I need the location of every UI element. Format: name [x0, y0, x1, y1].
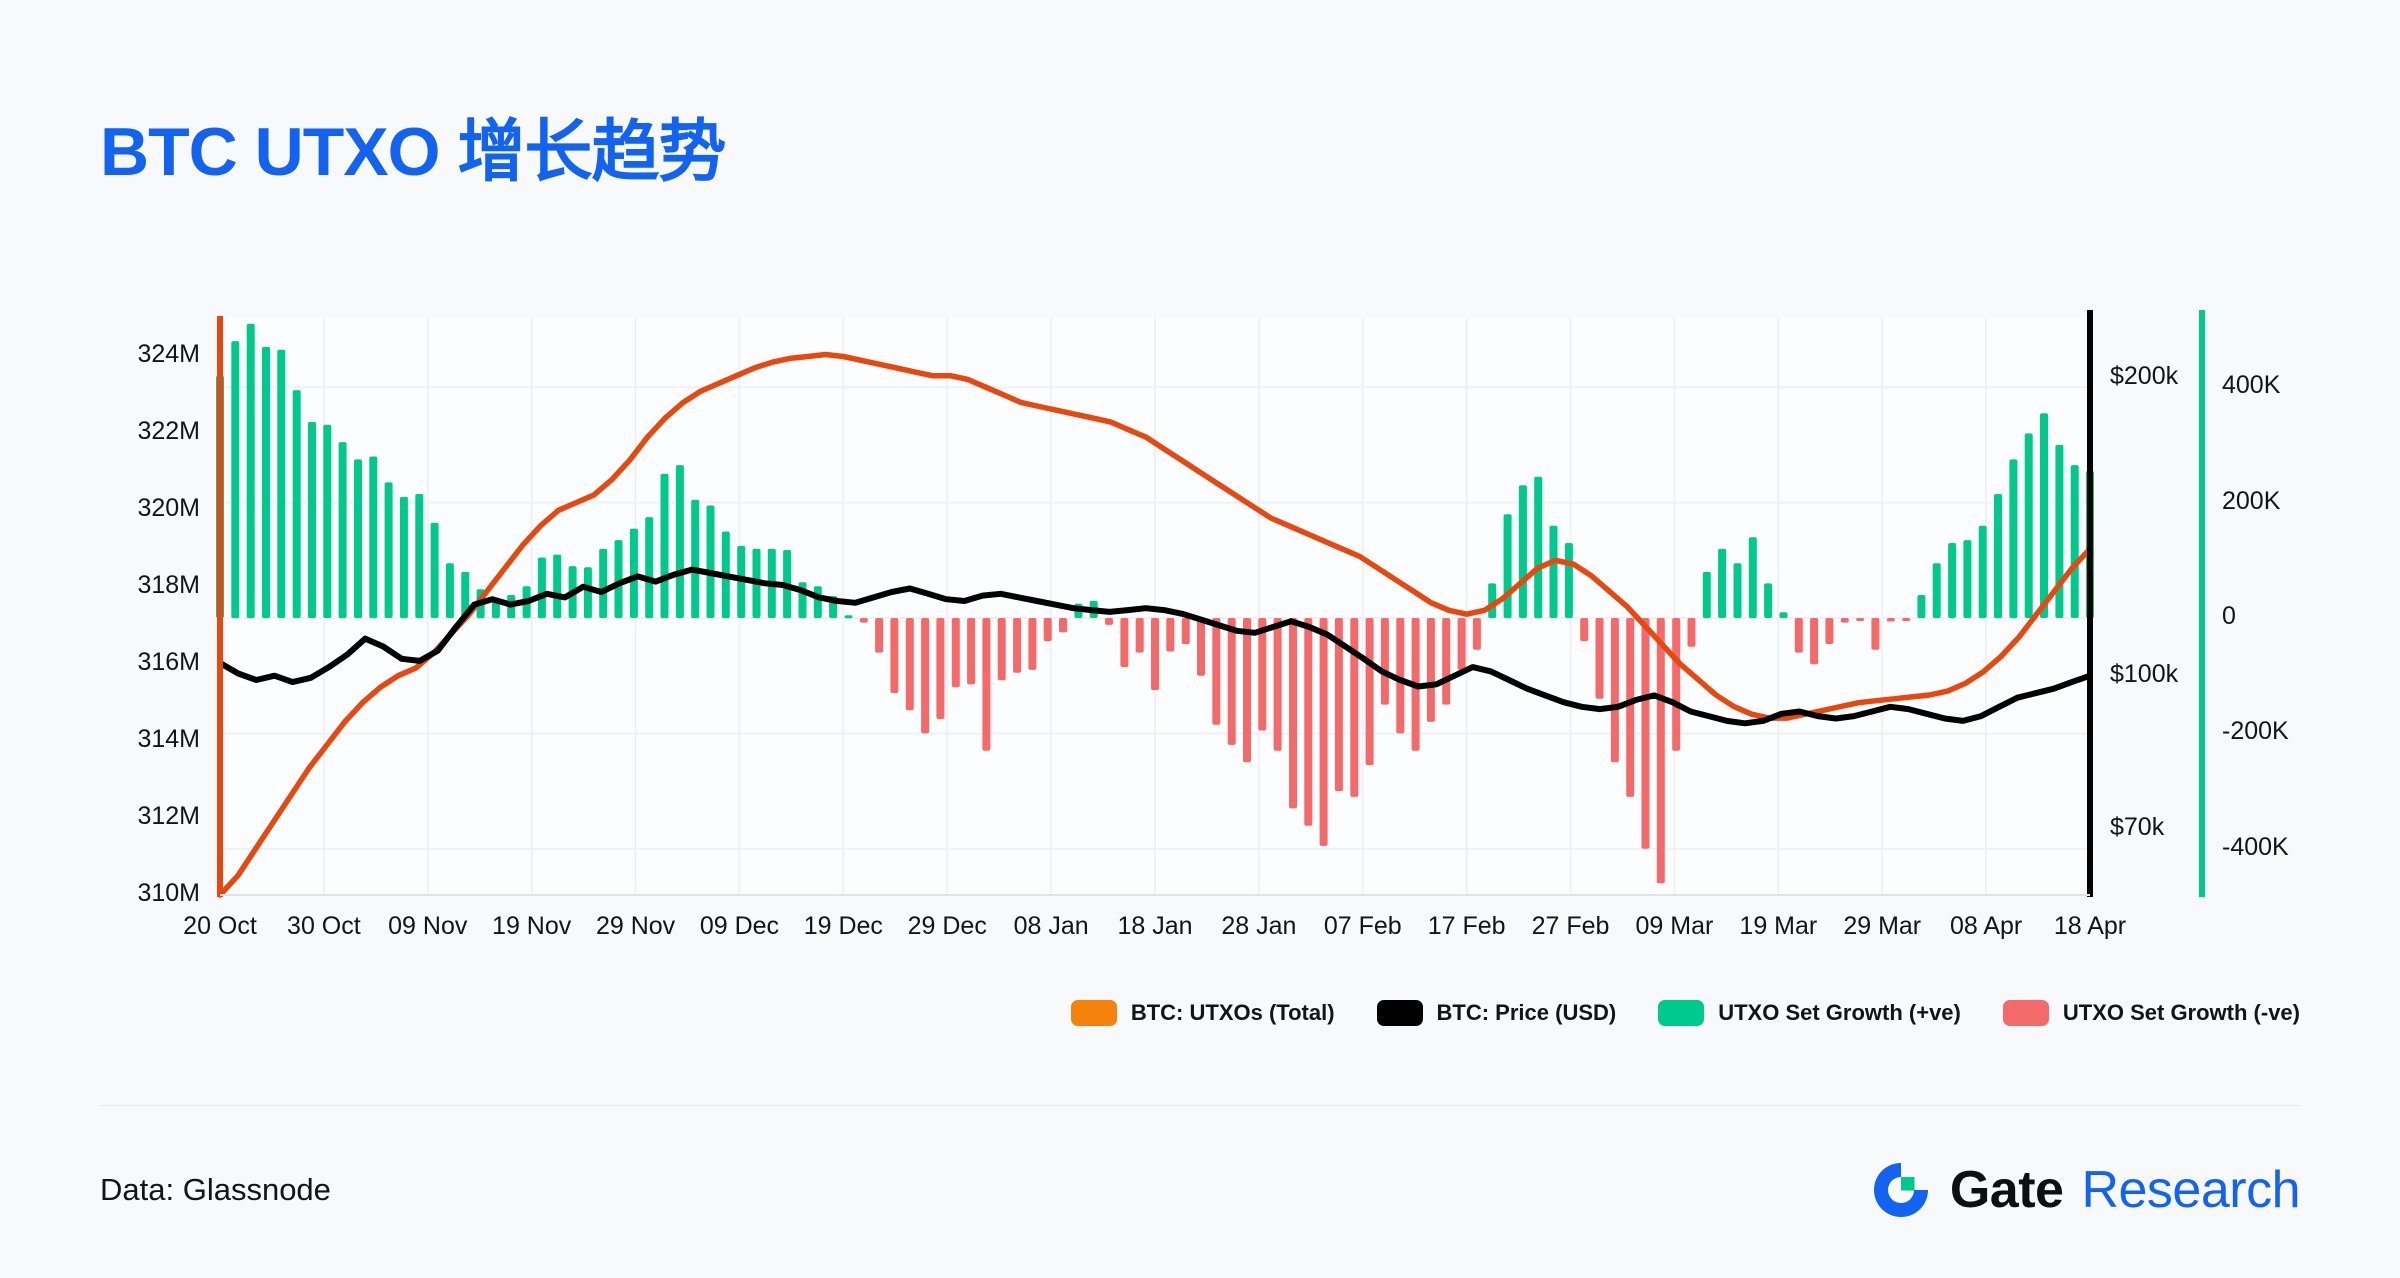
growth-bar-positive — [1979, 526, 1987, 618]
right-price-axis-tick: $100k — [2110, 660, 2178, 689]
x-axis-tick: 18 Apr — [2054, 912, 2126, 941]
growth-bar-positive — [385, 482, 393, 618]
x-axis-tick: 19 Nov — [492, 912, 571, 941]
growth-bar-positive — [262, 347, 270, 618]
growth-bar-positive — [1994, 494, 2002, 618]
left-axis-tick: 322M — [90, 417, 200, 446]
left-axis-tick: 314M — [90, 725, 200, 754]
growth-bar-negative — [1243, 618, 1251, 762]
growth-bar-positive — [538, 558, 546, 619]
growth-bar-negative — [1611, 618, 1619, 762]
legend-label-utxo-growth-negative: UTXO Set Growth (-ve) — [2063, 1000, 2300, 1026]
left-axis-tick: 318M — [90, 571, 200, 600]
growth-bar-positive — [1534, 477, 1542, 618]
growth-bar-negative — [1289, 618, 1297, 808]
growth-bar-negative — [1228, 618, 1236, 745]
growth-bar-positive — [231, 341, 239, 618]
growth-bar-positive — [645, 517, 653, 618]
growth-bar-negative — [952, 618, 960, 687]
growth-bar-positive — [277, 350, 285, 618]
legend-label-btc-price-usd: BTC: Price (USD) — [1437, 1000, 1617, 1026]
growth-bar-negative — [1596, 618, 1604, 699]
growth-bar-positive — [1519, 485, 1527, 618]
growth-bar-negative — [936, 618, 944, 719]
brand-name: Gate — [1950, 1160, 2064, 1220]
growth-bar-negative — [967, 618, 975, 684]
x-axis-tick: 08 Jan — [1014, 912, 1089, 941]
right-growth-axis-tick: 0 — [2222, 602, 2236, 631]
brand-sub: Research — [2081, 1160, 2300, 1220]
growth-bar-negative — [1458, 618, 1466, 670]
growth-bar-negative — [1381, 618, 1389, 705]
growth-bar-negative — [875, 618, 883, 653]
growth-bar-positive — [2040, 413, 2048, 618]
growth-bar-positive — [707, 506, 715, 619]
growth-bar-negative — [1688, 618, 1696, 647]
growth-bar-negative — [998, 618, 1006, 680]
growth-bar-negative — [1626, 618, 1634, 797]
growth-bar-negative — [1427, 618, 1435, 722]
growth-bar-negative — [1136, 618, 1144, 653]
growth-bar-positive — [339, 442, 347, 618]
chart-legend: BTC: UTXOs (Total)BTC: Price (USD)UTXO S… — [0, 1000, 2400, 1026]
growth-bar-negative — [1902, 618, 1910, 621]
growth-bar-negative — [1197, 618, 1205, 676]
growth-bar-negative — [1350, 618, 1358, 797]
growth-bar-negative — [1182, 618, 1190, 644]
right-price-axis-tick: $200k — [2110, 362, 2178, 391]
x-axis-tick: 09 Nov — [388, 912, 467, 941]
growth-bar-negative — [1825, 618, 1833, 644]
legend-swatch-utxo-growth-negative — [2003, 1000, 2049, 1026]
growth-bar-positive — [369, 457, 377, 619]
legend-label-utxos-total: BTC: UTXOs (Total) — [1131, 1000, 1335, 1026]
growth-bar-negative — [1642, 618, 1650, 849]
growth-bar-negative — [1841, 618, 1849, 623]
growth-bar-positive — [323, 425, 331, 618]
growth-bar-positive — [1933, 563, 1941, 618]
growth-bar-negative — [1274, 618, 1282, 751]
x-axis-tick: 18 Jan — [1117, 912, 1192, 941]
growth-bar-negative — [1151, 618, 1159, 690]
growth-bar-positive — [845, 615, 853, 618]
right-price-axis-tick: $70k — [2110, 813, 2164, 842]
growth-bar-positive — [446, 563, 454, 618]
legend-item-btc-price-usd[interactable]: BTC: Price (USD) — [1377, 1000, 1617, 1026]
growth-bar-negative — [1580, 618, 1588, 641]
growth-bar-positive — [1780, 612, 1788, 618]
growth-bar-positive — [814, 586, 822, 618]
growth-bar-negative — [1013, 618, 1021, 673]
x-axis-tick: 28 Jan — [1221, 912, 1296, 941]
growth-bar-negative — [1473, 618, 1481, 650]
growth-bar-negative — [1320, 618, 1328, 846]
right-growth-axis-tick: 200K — [2222, 487, 2280, 516]
growth-bar-positive — [1550, 526, 1558, 618]
x-axis-tick: 20 Oct — [183, 912, 257, 941]
growth-bar-positive — [415, 494, 423, 618]
x-axis-tick: 27 Feb — [1532, 912, 1610, 941]
x-axis-tick: 29 Nov — [596, 912, 675, 941]
x-axis-tick: 09 Mar — [1636, 912, 1714, 941]
x-axis-tick: 09 Dec — [700, 912, 779, 941]
growth-bar-positive — [293, 390, 301, 618]
growth-bar-positive — [1764, 583, 1772, 618]
growth-bar-positive — [630, 529, 638, 618]
growth-bar-negative — [1304, 618, 1312, 826]
growth-bar-negative — [906, 618, 914, 710]
growth-bar-positive — [661, 474, 669, 618]
growth-bar-negative — [1059, 618, 1067, 632]
right-growth-axis-tick: -200K — [2222, 717, 2289, 746]
page-footer: Data: Glassnode Gate Research — [0, 1140, 2400, 1240]
growth-bar-positive — [308, 422, 316, 618]
growth-bar-positive — [354, 459, 362, 618]
growth-bar-negative — [1672, 618, 1680, 751]
growth-bar-positive — [1504, 514, 1512, 618]
growth-bar-positive — [615, 540, 623, 618]
growth-bar-positive — [2071, 465, 2079, 618]
growth-bar-negative — [1366, 618, 1374, 765]
growth-bar-negative — [1810, 618, 1818, 664]
growth-bar-positive — [599, 549, 607, 618]
growth-bar-negative — [1795, 618, 1803, 653]
growth-bar-positive — [1734, 563, 1742, 618]
data-source-label: Data: Glassnode — [100, 1172, 331, 1208]
chart-plot-area — [0, 300, 2400, 920]
legend-swatch-utxos-total — [1071, 1000, 1117, 1026]
growth-bar-negative — [1044, 618, 1052, 641]
growth-bar-negative — [1442, 618, 1450, 705]
growth-bar-positive — [1917, 595, 1925, 618]
legend-item-utxo-growth-negative[interactable]: UTXO Set Growth (-ve) — [2003, 1000, 2300, 1026]
right-growth-axis-tick: 400K — [2222, 371, 2280, 400]
growth-bar-negative — [1657, 618, 1665, 883]
legend-label-utxo-growth-positive: UTXO Set Growth (+ve) — [1718, 1000, 1961, 1026]
x-axis-tick-labels: 20 Oct30 Oct09 Nov19 Nov29 Nov09 Dec19 D… — [0, 912, 2400, 952]
legend-item-utxos-total[interactable]: BTC: UTXOs (Total) — [1071, 1000, 1335, 1026]
growth-bar-positive — [431, 523, 439, 618]
growth-bar-positive — [1703, 572, 1711, 618]
growth-bar-negative — [1212, 618, 1220, 725]
growth-bar-positive — [247, 324, 255, 618]
growth-bar-negative — [1258, 618, 1266, 731]
growth-bar-positive — [1749, 537, 1757, 618]
x-axis-tick: 19 Mar — [1739, 912, 1817, 941]
x-axis-tick: 17 Feb — [1428, 912, 1506, 941]
chart-page: BTC UTXO 增长趋势 310M312M314M316M318M320M32… — [0, 0, 2400, 1278]
growth-bar-positive — [1948, 543, 1956, 618]
x-axis-tick: 29 Mar — [1843, 912, 1921, 941]
legend-swatch-utxo-growth-positive — [1658, 1000, 1704, 1026]
growth-bar-positive — [1718, 549, 1726, 618]
x-axis-tick: 19 Dec — [804, 912, 883, 941]
growth-bar-positive — [1565, 543, 1573, 618]
growth-bar-negative — [1166, 618, 1174, 652]
x-axis-tick: 30 Oct — [287, 912, 361, 941]
legend-item-utxo-growth-positive[interactable]: UTXO Set Growth (+ve) — [1658, 1000, 1961, 1026]
legend-swatch-btc-price-usd — [1377, 1000, 1423, 1026]
growth-bar-negative — [1887, 618, 1895, 622]
x-axis-tick: 07 Feb — [1324, 912, 1402, 941]
left-axis-tick: 312M — [90, 802, 200, 831]
growth-bar-negative — [1120, 618, 1128, 667]
growth-bar-positive — [584, 567, 592, 618]
chart-canvas — [0, 300, 2400, 920]
growth-bar-positive — [676, 465, 684, 618]
growth-bar-negative — [890, 618, 898, 693]
growth-bar-positive — [2009, 459, 2017, 618]
growth-bar-negative — [1105, 618, 1113, 625]
growth-bar-negative — [860, 618, 868, 623]
page-title: BTC UTXO 增长趋势 — [100, 96, 725, 195]
left-axis-tick: 316M — [90, 648, 200, 677]
left-axis-tick: 324M — [90, 340, 200, 369]
growth-bar-negative — [921, 618, 929, 733]
growth-bar-negative — [982, 618, 990, 751]
x-axis-tick: 08 Apr — [1950, 912, 2022, 941]
growth-bar-positive — [553, 555, 561, 619]
footer-divider — [100, 1105, 2300, 1106]
x-axis-tick: 29 Dec — [908, 912, 987, 941]
left-axis-tick: 310M — [90, 879, 200, 908]
growth-bar-negative — [1871, 618, 1879, 650]
growth-bar-positive — [691, 500, 699, 618]
growth-bar-positive — [2025, 433, 2033, 618]
growth-bar-positive — [1963, 540, 1971, 618]
growth-bar-negative — [1028, 618, 1036, 670]
gate-logo-icon — [1870, 1159, 1932, 1221]
right-growth-axis-tick: -400K — [2222, 833, 2289, 862]
left-axis-tick: 320M — [90, 494, 200, 523]
growth-bar-negative — [1856, 618, 1864, 621]
growth-bar-positive — [400, 497, 408, 618]
gate-research-logo: Gate Research — [1870, 1159, 2300, 1221]
